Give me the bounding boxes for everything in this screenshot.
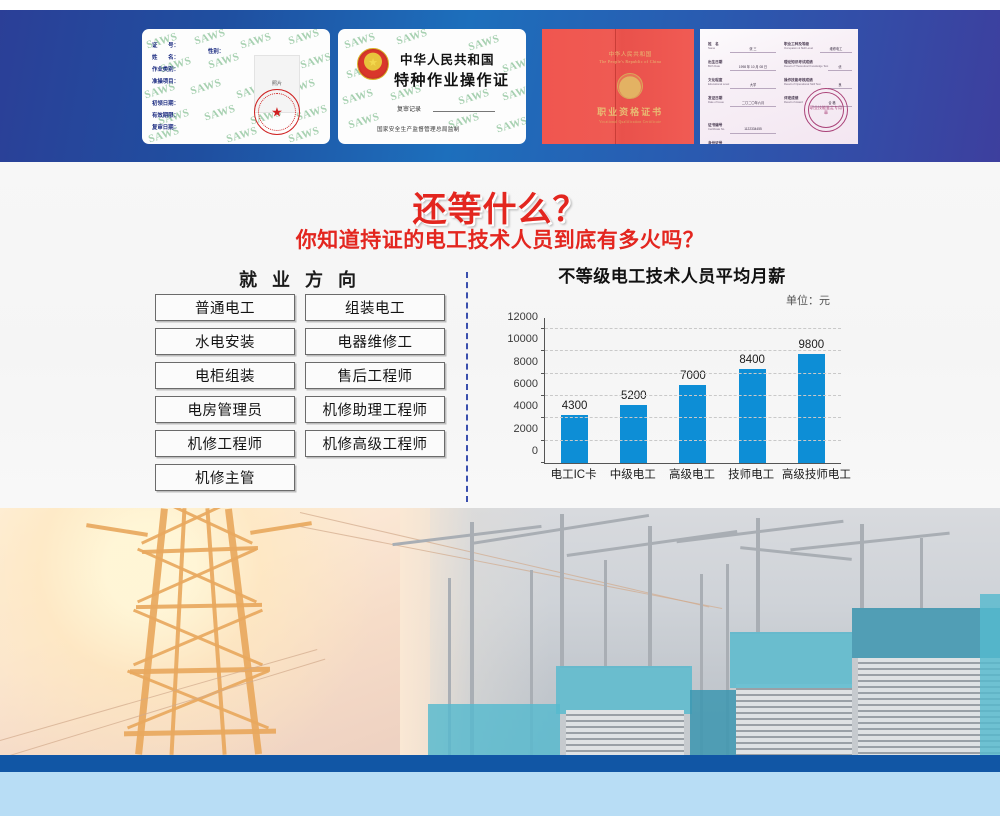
chart-y-tick-mark (541, 350, 545, 351)
certificate-operation-cover: SAWS SAWS SAWS SAWS SAWS SAWS SAWS SAWS … (338, 29, 526, 144)
cert-field-value: 1122334455 (730, 127, 776, 134)
chart-bar-column[interactable]: 4300 (546, 318, 603, 463)
scaffold-netting (852, 608, 1000, 658)
chart-y-tick-label: 0 (532, 445, 538, 457)
job-item[interactable]: 水电安装 (155, 328, 295, 355)
chart-bar[interactable] (679, 385, 706, 463)
cert-field-label: 姓 名： (152, 53, 179, 61)
cert-inner-left-column: 姓 名Name 张 三 出生日期Birth Date 1998 年 10 月 0… (708, 42, 776, 144)
job-item[interactable]: 电房管理员 (155, 396, 295, 423)
scaffold-netting (428, 704, 560, 755)
watermark-saws: SAWS (299, 51, 330, 72)
cert-field-value: 优 (828, 64, 852, 71)
stamp-text: 职业技能鉴定专用章 (809, 105, 843, 115)
cert-field-label: 文化程度Educational Level (708, 78, 729, 87)
cert-field-row: 文化程度Educational Level 大学 (708, 78, 776, 93)
cert-country-name-en: The People's Republic of China (599, 59, 661, 64)
job-item[interactable]: 普通电工 (155, 294, 295, 321)
chart-bars: 43005200700084009800 (545, 318, 841, 463)
hero-photo-banner: 月薪过10000的技工人才是如何炼成的？ (0, 508, 1000, 755)
chart-x-tick-label: 中级电工 (604, 466, 661, 482)
chart-bar-value-label: 4300 (562, 400, 588, 412)
national-emblem-icon (617, 73, 643, 99)
chart-y-tick-label: 4000 (514, 400, 538, 412)
chart-bar-column[interactable]: 7000 (665, 318, 722, 463)
chart-y-tick-mark (541, 462, 545, 463)
building-floors (858, 658, 1000, 755)
chart-y-tick-mark (541, 417, 545, 418)
scaffold-netting (980, 594, 1000, 755)
job-item[interactable]: 电器维修工 (305, 328, 445, 355)
chart-bar-value-label: 7000 (680, 370, 706, 382)
chart-bar-column[interactable]: 9800 (783, 318, 840, 463)
chart-y-tick-mark (541, 373, 545, 374)
job-item[interactable]: 机修主管 (155, 464, 295, 491)
national-emblem-icon (357, 48, 389, 80)
certificate-banner: SAWS SAWS SAWS SAWS SAWS SAWS SAWS SAWS … (0, 10, 1000, 162)
cert-field-value: 张 三 (730, 46, 776, 53)
chart-y-tick-label: 10000 (507, 333, 538, 345)
cert-field-label: 复审日期： (152, 123, 179, 131)
watermark-saws: SAWS (295, 103, 329, 124)
chart-y-tick-mark (541, 395, 545, 396)
job-item[interactable]: 售后工程师 (305, 362, 445, 389)
cert-field-value: 二〇二〇年六月 (730, 100, 776, 107)
chart-bar-column[interactable]: 8400 (724, 318, 781, 463)
chart-x-tick-label: 高级技师电工 (782, 466, 839, 482)
watermark-saws: SAWS (395, 29, 429, 47)
watermark-saws: SAWS (225, 125, 259, 144)
scaffold-netting (730, 632, 862, 688)
chart-bar[interactable] (798, 354, 825, 463)
chart-gridline (545, 395, 841, 396)
chart-plot-area: 43005200700084009800 0200040006000800010… (544, 318, 841, 464)
building-floors (566, 710, 684, 755)
cert-field-label-gender: 性别： (208, 47, 224, 55)
chart-bar[interactable] (739, 369, 766, 463)
cert-field-value: 1998 年 10 月 08 日 (730, 64, 776, 71)
chart-x-tick-label: 电工IC卡 (545, 466, 602, 482)
star-icon: ★ (271, 106, 283, 119)
cert-field-label: 理论知识考试成绩Result of Theoretical Knowledge … (784, 60, 828, 69)
chart-bar-value-label: 8400 (739, 354, 765, 366)
chart-x-tick-label: 高级电工 (664, 466, 721, 482)
scaffold-netting (690, 690, 736, 755)
cert-country-name: 中华人民共和国 (608, 50, 651, 58)
watermark-saws: SAWS (193, 29, 227, 47)
cert-field-label: 作业类别： (152, 65, 179, 73)
job-item[interactable]: 机修高级工程师 (305, 430, 445, 457)
chart-y-tick-label: 2000 (514, 423, 538, 435)
chart-gridline (545, 417, 841, 418)
purple-stamp-icon: 职业技能鉴定专用章 (804, 88, 848, 132)
cert-field-row: 姓 名Name 张 三 (708, 42, 776, 57)
cert-field-label: 操作技能考核成绩Result of Operational Skill Test (784, 78, 821, 87)
watermark-saws: SAWS (287, 29, 321, 47)
cert-field-label: 姓 名Name (708, 42, 719, 51)
cert-field-row: 证书编号Certificate No. 1122334455 (708, 123, 776, 138)
watermark-saws: SAWS (341, 87, 375, 108)
job-item[interactable]: 电柜组装 (155, 362, 295, 389)
page-subheadline: 你知道持证的电工技术人员到底有多火吗？ (0, 224, 1000, 254)
watermark-saws: SAWS (347, 111, 381, 132)
cert-field-row: 身份证号ID Card No. 44010119981008 (708, 141, 776, 144)
cert-review-label: 复审记录 (397, 104, 421, 113)
cert-title: 职业资格证书 (597, 105, 663, 118)
chart-gridline (545, 350, 841, 351)
chart-bar-value-label: 9800 (799, 339, 825, 351)
cert-field-label: 发证日期Date of Issue (708, 96, 724, 105)
certificate-operation-inner: SAWS SAWS SAWS SAWS SAWS SAWS SAWS SAWS … (142, 29, 330, 144)
scaffold-netting (556, 666, 692, 714)
cert-title-en: Vocational Qualification Certificate (599, 120, 661, 124)
chart-bar[interactable] (620, 405, 647, 463)
chart-y-tick-label: 12000 (507, 311, 538, 323)
cert-title: 特种作业操作证 (394, 69, 510, 90)
cert-country-name: 中华人民共和国 (400, 49, 495, 68)
page-root: SAWS SAWS SAWS SAWS SAWS SAWS SAWS SAWS … (0, 0, 1000, 816)
cert-field-label: 身份证号ID Card No. (708, 141, 722, 144)
bottom-panel (0, 772, 1000, 816)
cert-review-rule (433, 111, 495, 112)
job-item[interactable]: 机修助理工程师 (305, 396, 445, 423)
chart-title: 不等级电工技术人员平均月薪 (492, 262, 852, 287)
cert-field-label: 评定成绩Result of Award (784, 96, 803, 105)
cert-field-label: 证 号： (152, 41, 179, 49)
cert-field-row: 发证日期Date of Issue 二〇二〇年六月 (708, 96, 776, 111)
watermark-saws: SAWS (495, 115, 526, 136)
job-item[interactable]: 机修工程师 (155, 430, 295, 457)
chart-y-tick-mark (541, 328, 545, 329)
jobs-section-title: 就 业 方 向 (155, 266, 445, 292)
jobs-grid: 普通电工 组装电工 水电安装 电器维修工 电柜组装 售后工程师 电房管理员 机修… (155, 294, 445, 491)
chart-x-tick-label: 技师电工 (723, 466, 780, 482)
salary-bar-chart: 不等级电工技术人员平均月薪 单位：元 43005200700084009800 … (492, 262, 852, 502)
cert-field-value: 维修电工 (820, 46, 852, 53)
chart-gridline (545, 373, 841, 374)
chart-x-axis-labels: 电工IC卡中级电工高级电工技师电工高级技师电工 (544, 466, 840, 482)
cert-field-label: 职业工种及等级Occupation & Skill Level (784, 42, 813, 51)
certificate-vocational-inner: 姓 名Name 张 三 出生日期Birth Date 1998 年 10 月 0… (700, 29, 858, 144)
watermark-saws: SAWS (239, 31, 273, 52)
chart-gridline (545, 440, 841, 441)
building-floors (736, 684, 854, 755)
watermark-saws: SAWS (189, 77, 223, 98)
column-divider (466, 272, 468, 502)
job-item[interactable]: 组装电工 (305, 294, 445, 321)
chart-y-tick-label: 6000 (514, 378, 538, 390)
bottom-divider-bar (0, 755, 1000, 772)
main-content-section: 还等什么？ 你知道持证的电工技术人员到底有多火吗？ 就 业 方 向 普通电工 组… (0, 162, 1000, 508)
chart-bar-column[interactable]: 5200 (605, 318, 662, 463)
cert-issuer: 国家安全生产监督管理总局监制 (377, 125, 460, 133)
cert-field-label: 准操项目： (152, 77, 179, 85)
watermark-saws: SAWS (203, 103, 237, 124)
cert-field-row: 出生日期Birth Date 1998 年 10 月 08 日 (708, 60, 776, 75)
cert-field-label: 出生日期Birth Date (708, 60, 722, 69)
chart-unit-note: 单位：元 (786, 292, 830, 308)
chart-y-tick-label: 8000 (514, 356, 538, 368)
cert-field-value: 大学 (730, 82, 776, 89)
chart-gridline (545, 328, 841, 329)
cert-field-row: 理论知识考试成绩Result of Theoretical Knowledge … (784, 60, 852, 75)
chart-y-tick-mark (541, 440, 545, 441)
cert-field-label: 初领日期： (152, 99, 179, 107)
cert-field-row: 职业工种及等级Occupation & Skill Level 维修电工 (784, 42, 852, 57)
certificate-vocational-cover: 中华人民共和国 The People's Republic of China 职… (542, 29, 694, 144)
red-stamp-icon: ★ (254, 89, 300, 135)
cert-field-label: 证书编号Certificate No. (708, 123, 725, 132)
cert-field-label: 有效期限： (152, 111, 179, 119)
